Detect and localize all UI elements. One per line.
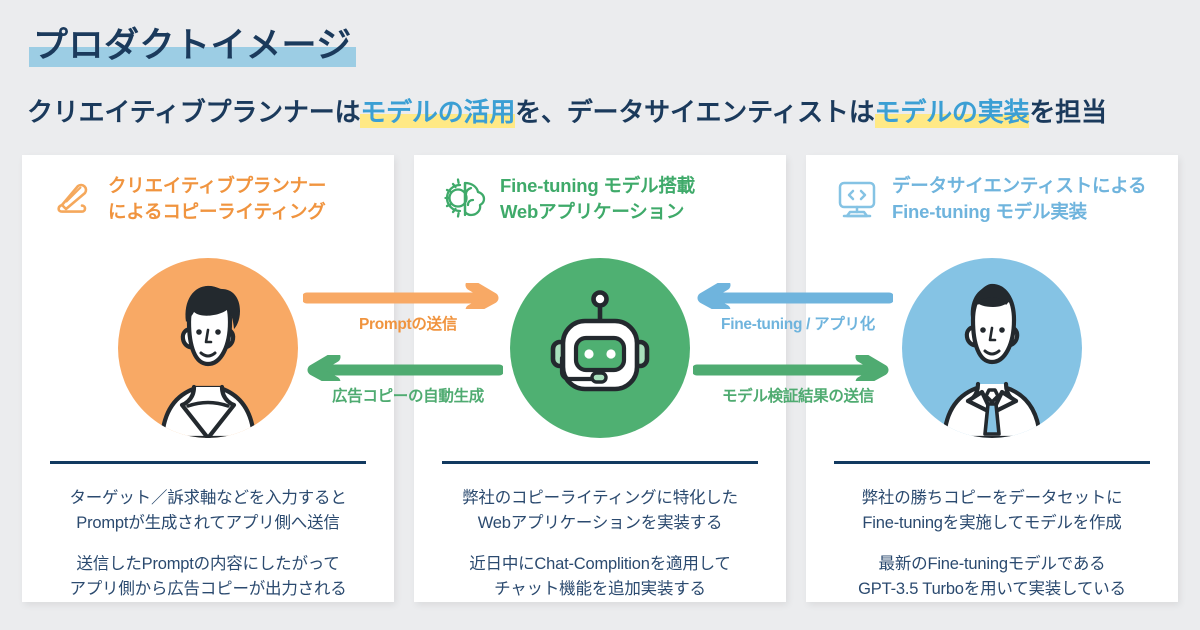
person-necktie-illustration: [902, 258, 1082, 438]
card-body: 弊社のコピーライティングに特化した Webアプリケーションを実装する 近日中にC…: [434, 464, 766, 602]
card-title: Fine-tuning モデル搭載 Webアプリケーション: [500, 173, 695, 224]
card-body-paragraph: 近日中にChat-Complitionを適用して チャット機能を追加実装する: [442, 552, 758, 602]
pen-brush-icon: [50, 175, 96, 226]
card-data-scientist: データサイエンティストによる Fine-tuning モデル実装: [806, 155, 1178, 602]
card-illustration: [434, 242, 766, 455]
card-creative-planner: クリエイティブプランナー によるコピーライティング: [22, 155, 394, 602]
subtitle-segment-3: を担当: [1029, 97, 1106, 127]
card-illustration: [826, 242, 1158, 455]
page-title-text: プロダクトイメージ: [33, 28, 352, 63]
card-body-paragraph: ターゲット／訴求軸などを入力すると Promptが生成されてアプリ側へ送信: [50, 486, 366, 536]
person-casual-illustration: [118, 258, 298, 438]
card-body-paragraph: 弊社のコピーライティングに特化した Webアプリケーションを実装する: [442, 486, 758, 536]
monitor-code-icon: [834, 175, 880, 226]
subtitle-highlight-1: モデルの活用: [360, 98, 515, 127]
card-body-paragraph: 送信したPromptの内容にしたがって アプリ側から広告コピーが出力される: [50, 552, 366, 602]
card-body-paragraph: 最新のFine-tuningモデルである GPT-3.5 Turboを用いて実装…: [834, 552, 1150, 602]
robot-headset-illustration: [510, 258, 690, 438]
card-header: データサイエンティストによる Fine-tuning モデル実装: [826, 173, 1158, 242]
subtitle-highlight-2: モデルの実装: [875, 98, 1030, 127]
card-illustration: [42, 242, 374, 455]
card-body-paragraph: 弊社の勝ちコピーをデータセットに Fine-tuningを実施してモデルを作成: [834, 486, 1150, 536]
page-subtitle: クリエイティブプランナーはモデルの活用を、データサイエンティストはモデルの実装を…: [27, 98, 1107, 127]
brain-gear-icon: [442, 175, 488, 226]
subtitle-segment-1: クリエイティブプランナーは: [27, 97, 360, 127]
card-row: クリエイティブプランナー によるコピーライティング: [22, 155, 1178, 602]
subtitle-segment-2: を、データサイエンティストは: [515, 97, 874, 127]
card-body: ターゲット／訴求軸などを入力すると Promptが生成されてアプリ側へ送信 送信…: [42, 464, 374, 602]
card-header: Fine-tuning モデル搭載 Webアプリケーション: [434, 173, 766, 242]
card-header: クリエイティブプランナー によるコピーライティング: [42, 173, 374, 242]
card-title: データサイエンティストによる Fine-tuning モデル実装: [892, 173, 1146, 224]
card-title: クリエイティブプランナー によるコピーライティング: [108, 173, 326, 224]
card-body: 弊社の勝ちコピーをデータセットに Fine-tuningを実施してモデルを作成 …: [826, 464, 1158, 602]
page-title: プロダクトイメージ: [27, 24, 358, 69]
card-web-application: Fine-tuning モデル搭載 Webアプリケーション: [414, 155, 786, 602]
